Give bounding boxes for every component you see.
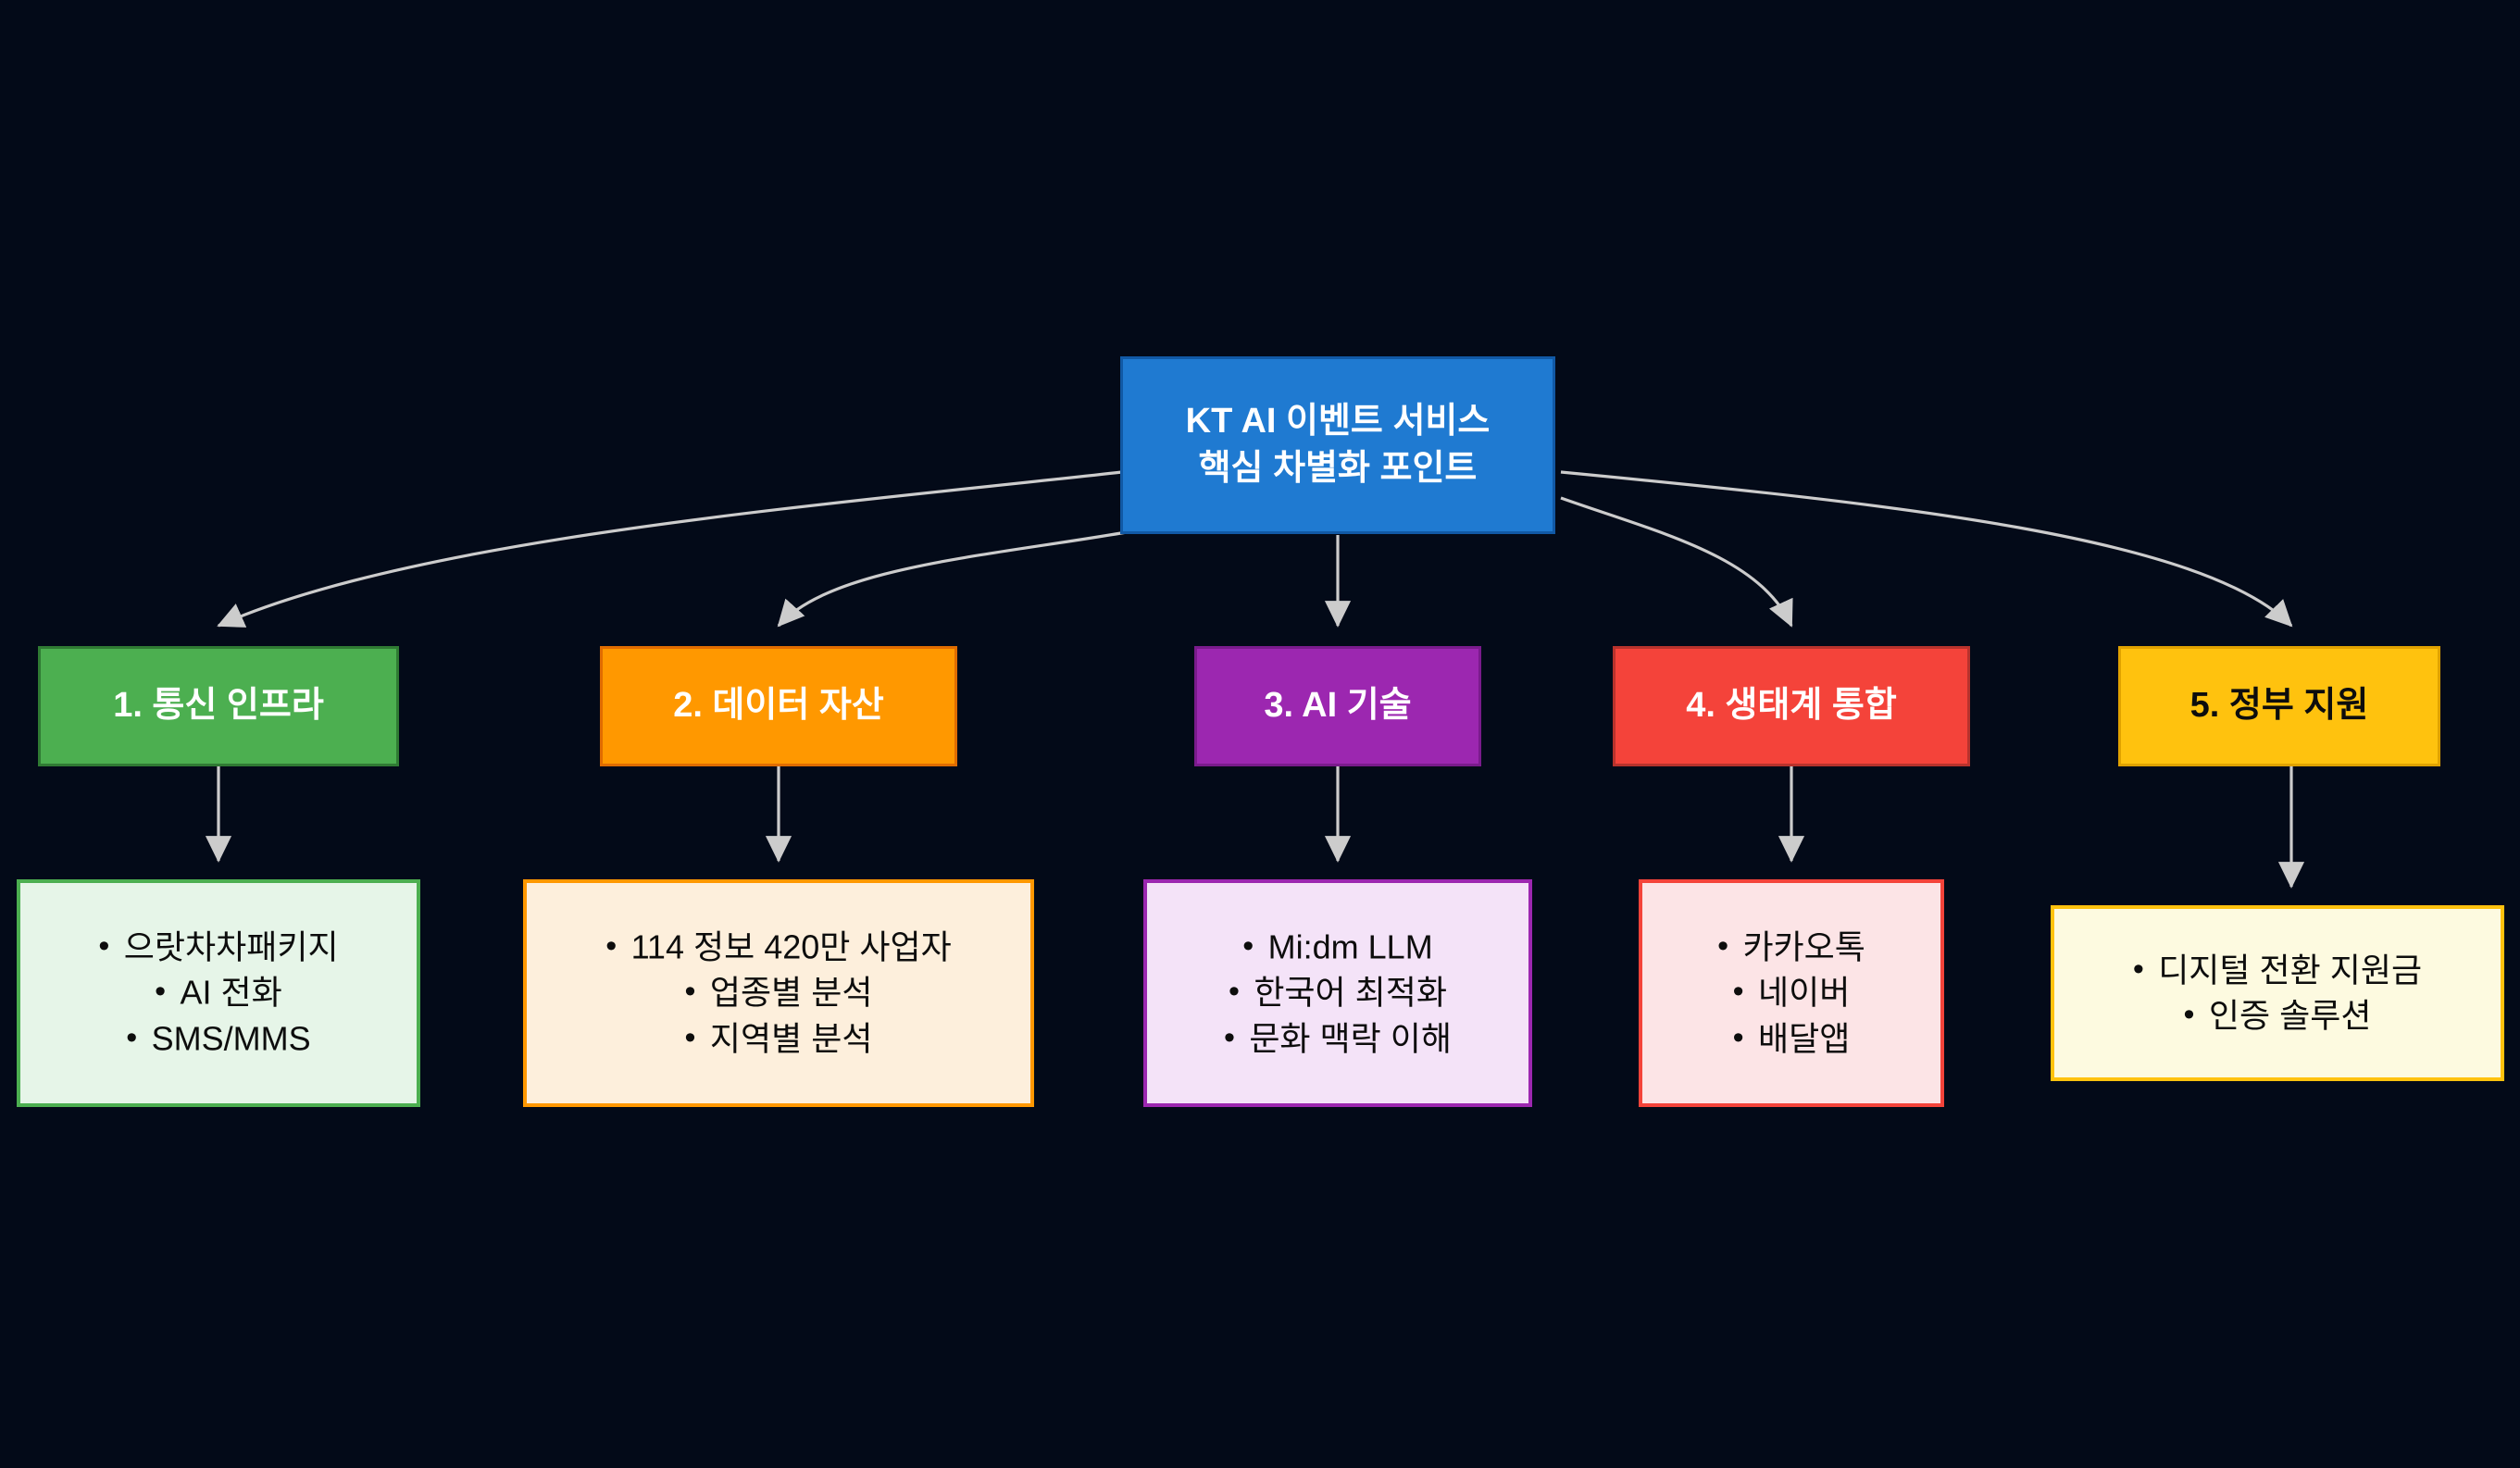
detail-node-1[interactable]: •으랏차차패키지 •AI 전화 •SMS/MMS (17, 879, 420, 1107)
list-item-label: 인증 솔루션 (2209, 997, 2372, 1035)
list-item: •지역별 분석 (605, 1016, 952, 1062)
list-item: •문화 맥락 이해 (1224, 1016, 1452, 1062)
list-item: •업종별 분석 (605, 970, 952, 1015)
bullet-icon: • (1733, 1016, 1744, 1059)
category-node-1[interactable]: 1. 통신 인프라 (38, 646, 399, 766)
detail-node-1-list: •으랏차차패키지 •AI 전화 •SMS/MMS (98, 925, 338, 1062)
bullet-icon: • (685, 970, 696, 1013)
bullet-icon: • (155, 970, 166, 1013)
category-node-4[interactable]: 4. 생태계 통합 (1613, 646, 1970, 766)
list-item-label: 문화 맥락 이해 (1249, 1019, 1452, 1057)
category-node-4-label: 4. 생태계 통합 (1686, 682, 1897, 729)
list-item-label: 업종별 분석 (710, 974, 873, 1012)
category-node-1-label: 1. 통신 인프라 (113, 682, 324, 729)
detail-node-2[interactable]: •114 정보 420만 사업자 •업종별 분석 •지역별 분석 (523, 879, 1034, 1107)
list-item: •인증 솔루션 (2133, 993, 2422, 1039)
list-item: •AI 전화 (98, 970, 338, 1015)
category-node-3-label: 3. AI 기술 (1264, 682, 1411, 729)
category-node-3[interactable]: 3. AI 기술 (1194, 646, 1481, 766)
bullet-icon: • (98, 925, 109, 967)
detail-node-3[interactable]: •Mi:dm LLM •한국어 최적화 •문화 맥락 이해 (1143, 879, 1532, 1107)
bullet-icon: • (1229, 970, 1240, 1013)
list-item: •카카오톡 (1717, 925, 1865, 970)
detail-node-5-list: •디지털 전환 지원금 •인증 솔루션 (2133, 948, 2422, 1039)
bullet-icon: • (2184, 993, 2195, 1036)
list-item-label: 카카오톡 (1742, 928, 1865, 966)
list-item-label: 한국어 최적화 (1254, 974, 1447, 1012)
list-item: •한국어 최적화 (1224, 970, 1452, 1015)
list-item: •Mi:dm LLM (1224, 925, 1452, 970)
list-item-label: Mi:dm LLM (1268, 928, 1433, 966)
detail-node-2-list: •114 정보 420만 사업자 •업종별 분석 •지역별 분석 (605, 925, 952, 1062)
bullet-icon: • (1242, 925, 1254, 967)
list-item: •SMS/MMS (98, 1016, 338, 1062)
diagram-canvas: KT AI 이벤트 서비스 핵심 차별화 포인트 1. 통신 인프라 •으랏차차… (0, 0, 2520, 1468)
bullet-icon: • (605, 925, 617, 967)
list-item-label: 지역별 분석 (710, 1019, 873, 1057)
list-item-label: 배달앱 (1758, 1019, 1850, 1057)
bullet-icon: • (1733, 970, 1744, 1013)
bullet-icon: • (685, 1016, 696, 1059)
category-node-5-label: 5. 정부 지원 (2190, 682, 2369, 729)
edge-root-to-cat-2 (779, 529, 1148, 626)
detail-node-5[interactable]: •디지털 전환 지원금 •인증 솔루션 (2051, 905, 2504, 1081)
list-item: •배달앱 (1717, 1016, 1865, 1062)
list-item: •디지털 전환 지원금 (2133, 948, 2422, 993)
category-node-2[interactable]: 2. 데이터 자산 (600, 646, 957, 766)
category-node-5[interactable]: 5. 정부 지원 (2118, 646, 2440, 766)
detail-node-4-list: •카카오톡 •네이버 •배달앱 (1717, 925, 1865, 1062)
edge-root-to-cat-5 (1561, 472, 2291, 626)
bullet-icon: • (1717, 925, 1728, 967)
root-node-label: KT AI 이벤트 서비스 핵심 차별화 포인트 (1186, 398, 1491, 493)
list-item: •네이버 (1717, 970, 1865, 1015)
list-item-label: 114 정보 420만 사업자 (631, 928, 952, 966)
edge-root-to-cat-4 (1561, 498, 1791, 626)
edge-root-to-cat-1 (218, 472, 1122, 626)
list-item-label: SMS/MMS (152, 1019, 311, 1057)
bullet-icon: • (1224, 1016, 1235, 1059)
list-item-label: AI 전화 (181, 974, 282, 1012)
list-item-label: 으랏차차패키지 (124, 928, 339, 966)
list-item: •114 정보 420만 사업자 (605, 925, 952, 970)
detail-node-3-list: •Mi:dm LLM •한국어 최적화 •문화 맥락 이해 (1224, 925, 1452, 1062)
root-node[interactable]: KT AI 이벤트 서비스 핵심 차별화 포인트 (1120, 356, 1555, 534)
list-item: •으랏차차패키지 (98, 925, 338, 970)
bullet-icon: • (2133, 948, 2144, 990)
list-item-label: 디지털 전환 지원금 (2158, 951, 2422, 989)
bullet-icon: • (126, 1016, 137, 1059)
detail-node-4[interactable]: •카카오톡 •네이버 •배달앱 (1639, 879, 1944, 1107)
list-item-label: 네이버 (1758, 974, 1850, 1012)
category-node-2-label: 2. 데이터 자산 (673, 682, 884, 729)
